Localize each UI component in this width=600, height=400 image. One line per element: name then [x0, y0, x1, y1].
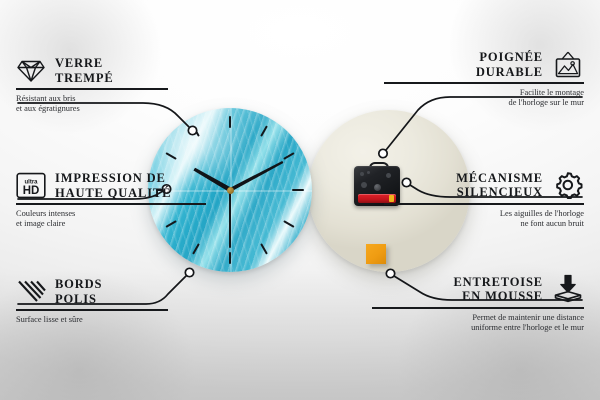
callout-rule [384, 82, 584, 84]
foam-spacer [366, 244, 386, 264]
callout-rule [16, 88, 168, 90]
callout-rule [16, 203, 206, 205]
callout-title: BORDS POLIS [55, 277, 102, 306]
clock-front-view [148, 108, 312, 272]
infographic-canvas: VERRE TREMPÉ Résistant aux bris et aux é… [0, 0, 600, 400]
mechanism-shaft [374, 184, 381, 191]
callout-description-line: et aux égratignures [16, 104, 166, 114]
polished-edges-icon [16, 279, 46, 304]
callout-description-line: ne font aucun bruit [384, 219, 584, 229]
diamond-icon [16, 58, 46, 84]
ultra-hd-icon: ultra HD [16, 172, 46, 199]
hanging-frame-icon [552, 51, 584, 79]
mechanism-detail [360, 172, 364, 176]
gear-icon [552, 170, 584, 200]
mechanism-detail [367, 171, 370, 174]
callout-description-line: Les aiguilles de l'horloge [384, 209, 584, 219]
callout-entretoise-en-mousse: ENTRETOISE EN MOUSSE Permet de maintenir… [372, 274, 584, 334]
callout-description-line: Résistant aux bris [16, 94, 166, 104]
callout-bords-polis: BORDS POLIS Surface lisse et sûre [16, 277, 166, 325]
callout-rule [372, 307, 584, 309]
callout-description-line: Permet de maintenir une distance [372, 313, 584, 323]
second-hand [229, 190, 231, 248]
foam-spacer-icon [552, 274, 584, 304]
callout-title: MÉCANISME SILENCIEUX [456, 171, 543, 200]
callout-rule [384, 203, 584, 205]
callout-mecanisme-silencieux: MÉCANISME SILENCIEUX Les aiguilles de l'… [384, 170, 584, 230]
clock-center-pin [227, 187, 234, 194]
callout-title: ENTRETOISE EN MOUSSE [453, 275, 543, 304]
callout-description-line: Surface lisse et sûre [16, 315, 166, 325]
callout-header: VERRE TREMPÉ [16, 56, 166, 85]
callout-header: BORDS POLIS [16, 277, 166, 306]
callout-header: ultra HD IMPRESSION DE HAUTE QUALITÉ [16, 171, 166, 200]
callout-impression-haute-qualite: ultra HD IMPRESSION DE HAUTE QUALITÉ Cou… [16, 171, 166, 230]
callout-description-line: Couleurs intenses [16, 209, 166, 219]
callout-rule [16, 309, 168, 311]
callout-header: ENTRETOISE EN MOUSSE [372, 274, 584, 304]
mechanism-detail [361, 182, 367, 188]
callout-title: POIGNÉE DURABLE [476, 50, 543, 79]
callout-header: POIGNÉE DURABLE [384, 50, 584, 79]
callout-header: MÉCANISME SILENCIEUX [384, 170, 584, 200]
callout-description-line: et image claire [16, 219, 166, 229]
callout-title: VERRE TREMPÉ [55, 56, 114, 85]
callout-poignee-durable: POIGNÉE DURABLE Facilite le montage de l… [384, 50, 584, 109]
callout-verre-trempe: VERRE TREMPÉ Résistant aux bris et aux é… [16, 56, 166, 115]
callout-description-line: Facilite le montage [384, 88, 584, 98]
svg-text:HD: HD [23, 185, 40, 197]
callout-description-line: de l'horloge sur le mur [384, 98, 584, 108]
callout-title: IMPRESSION DE HAUTE QUALITÉ [55, 171, 171, 200]
callout-description-line: uniforme entre l'horloge et le mur [372, 323, 584, 333]
